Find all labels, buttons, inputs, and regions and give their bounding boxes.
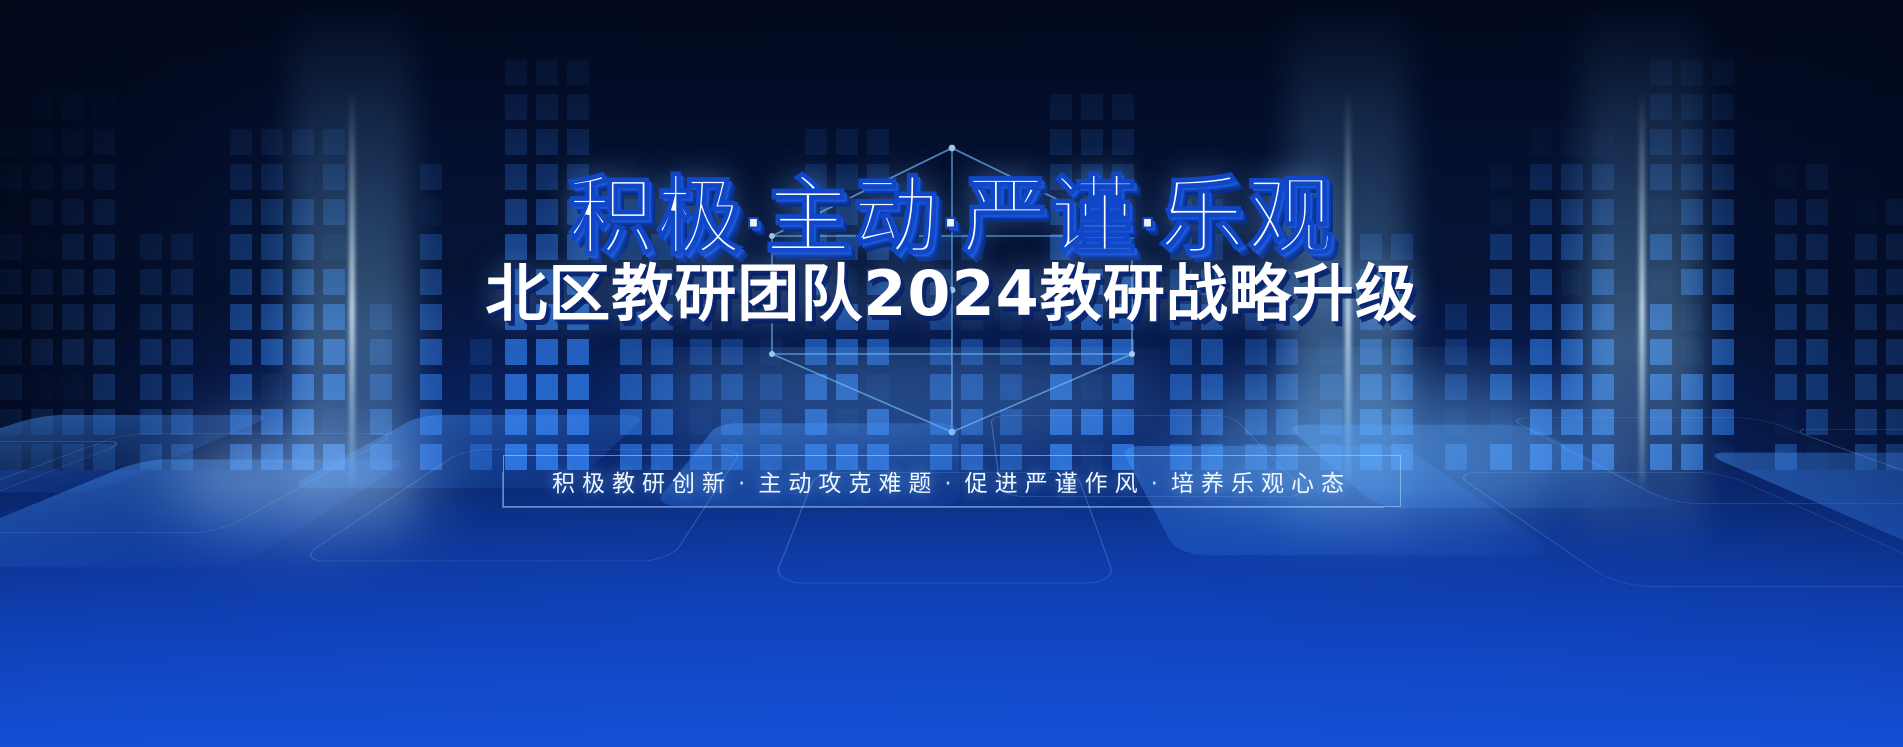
banner-content: 积极·主动·严谨·乐观 北区教研团队2024教研战略升级 积极教研创新·主动攻克…: [0, 0, 1903, 747]
tagline-separator: ·: [738, 471, 752, 497]
title-word-1: 主动: [765, 167, 941, 267]
title-separator: ·: [1138, 194, 1159, 252]
tagline-item-3: 培养乐观心态: [1171, 471, 1351, 497]
tagline-separator: ·: [944, 471, 958, 497]
tagline-item-2: 促进严谨作风: [965, 471, 1145, 497]
tagline-text: 积极教研创新·主动攻克难题·促进严谨作风·培养乐观心态: [552, 464, 1351, 498]
tagline-item-1: 主动攻克难题: [758, 471, 938, 497]
page-title: 积极·主动·严谨·乐观: [0, 174, 1903, 260]
tagline-item-0: 积极教研创新: [552, 471, 732, 497]
title-word-3: 乐观: [1159, 167, 1335, 267]
tagline-frame: 积极教研创新·主动攻克难题·促进严谨作风·培养乐观心态: [503, 455, 1401, 507]
title-word-2: 严谨: [962, 167, 1138, 267]
page-subtitle: 北区教研团队2024教研战略升级: [0, 263, 1903, 325]
title-word-0: 积极: [568, 167, 744, 267]
title-separator: ·: [744, 194, 765, 252]
tagline-separator: ·: [1151, 471, 1165, 497]
title-separator: ·: [941, 194, 962, 252]
banner-root: 积极·主动·严谨·乐观 北区教研团队2024教研战略升级 积极教研创新·主动攻克…: [0, 0, 1903, 747]
